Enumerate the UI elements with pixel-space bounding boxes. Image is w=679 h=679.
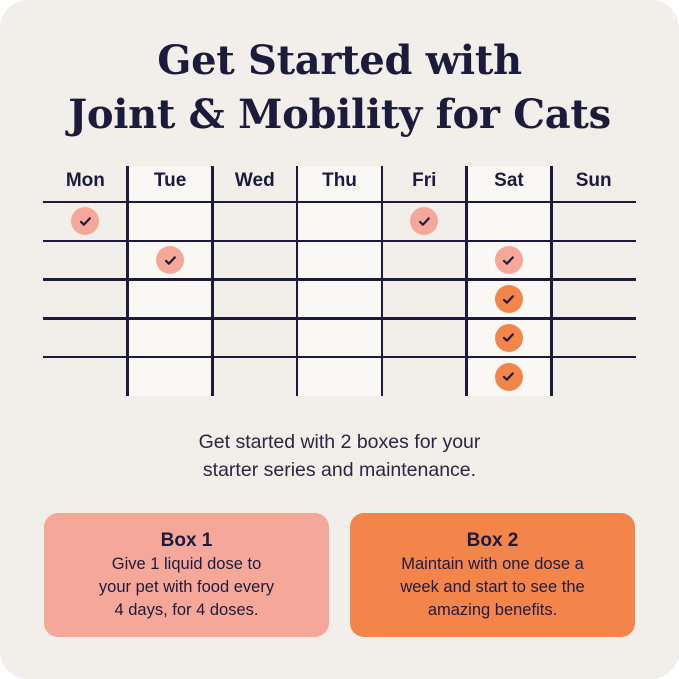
calendar-row-divider <box>43 317 636 320</box>
check-icon <box>501 369 516 384</box>
subtitle: Get started with 2 boxes for your starte… <box>0 428 679 484</box>
check-icon <box>163 253 178 268</box>
check-icon <box>501 292 516 307</box>
calendar-row-divider <box>43 240 636 243</box>
box-1-body-line-3: 4 days, for 4 doses. <box>58 599 315 622</box>
calendar-check-fri-row1 <box>410 207 438 235</box>
infographic-card: Get Started with Joint & Mobility for Ca… <box>0 0 679 679</box>
title-line-1: Get Started with <box>0 34 679 88</box>
box-1-title: Box 1 <box>44 528 329 553</box>
calendar-row-divider <box>43 356 636 359</box>
calendar-check-sat-row3 <box>495 285 523 313</box>
box-card-2: Box 2 Maintain with one dose a week and … <box>350 513 635 637</box>
check-icon <box>501 253 516 268</box>
dosing-calendar: MonTueWedThuFriSatSun <box>43 166 636 396</box>
calendar-check-sat-row5 <box>495 363 523 391</box>
calendar-header-row: MonTueWedThuFriSatSun <box>43 166 636 202</box>
title-line-2: Joint & Mobility for Cats <box>0 88 679 142</box>
box-1-body: Give 1 liquid dose to your pet with food… <box>44 553 329 622</box>
calendar-day-header-sat: Sat <box>467 166 552 202</box>
calendar-day-header-wed: Wed <box>212 166 297 202</box>
subtitle-line-2: starter series and maintenance. <box>0 456 679 484</box>
box-2-body-line-3: amazing benefits. <box>364 599 621 622</box>
check-icon <box>78 214 93 229</box>
calendar-day-header-mon: Mon <box>43 166 128 202</box>
box-1-body-line-1: Give 1 liquid dose to <box>58 553 315 576</box>
box-2-title: Box 2 <box>350 528 635 553</box>
calendar-day-header-tue: Tue <box>128 166 213 202</box>
box-2-body-line-1: Maintain with one dose a <box>364 553 621 576</box>
box-card-1: Box 1 Give 1 liquid dose to your pet wit… <box>44 513 329 637</box>
box-2-body-line-2: week and start to see the <box>364 576 621 599</box>
page-title: Get Started with Joint & Mobility for Ca… <box>0 34 679 142</box>
calendar-day-header-fri: Fri <box>382 166 467 202</box>
calendar-check-mon-row1 <box>71 207 99 235</box>
subtitle-line-1: Get started with 2 boxes for your <box>0 428 679 456</box>
calendar-check-sat-row2 <box>495 246 523 274</box>
calendar-row-divider <box>43 278 636 281</box>
box-2-body: Maintain with one dose a week and start … <box>350 553 635 622</box>
check-icon <box>501 330 516 345</box>
check-icon <box>417 214 432 229</box>
calendar-check-sat-row4 <box>495 324 523 352</box>
calendar-day-header-sun: Sun <box>551 166 636 202</box>
box-cards: Box 1 Give 1 liquid dose to your pet wit… <box>44 513 635 637</box>
box-1-body-line-2: your pet with food every <box>58 576 315 599</box>
calendar-day-header-thu: Thu <box>297 166 382 202</box>
